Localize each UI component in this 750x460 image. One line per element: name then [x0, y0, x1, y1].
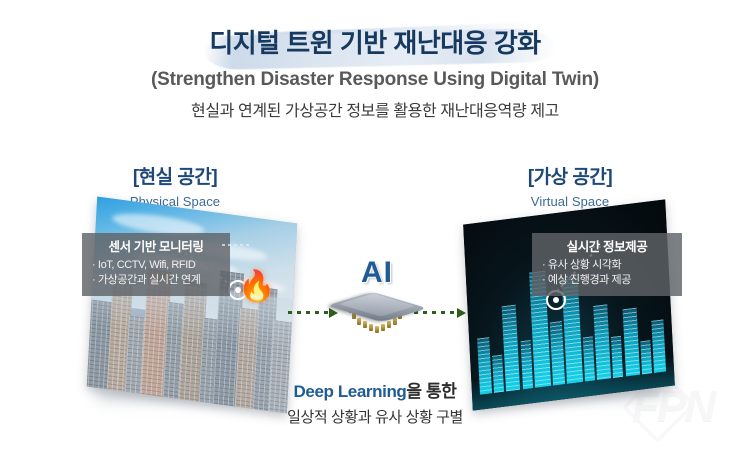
infographic-canvas: FPN 디지털 트윈 기반 재난대응 강화 (Strengthen Disast…	[0, 0, 750, 460]
ai-chip-icon: AI	[344, 262, 410, 336]
virtual-callout-box: 실시간 정보제공 · 유사 상황 시각화 · 예상 진행경과 제공	[532, 233, 682, 296]
virtual-space-heading-kr: [가상 공간]	[470, 166, 670, 190]
digital-twin-image	[463, 199, 675, 410]
page-title: 디지털 트윈 기반 재난대응 강화	[0, 26, 750, 60]
physical-callout-title: 센서 기반 모니터링	[92, 239, 220, 255]
footer-line-1: Deep Learning을 통한	[0, 380, 750, 403]
virtual-space-visualization	[463, 199, 675, 410]
footer-line-2: 일상적 상황과 유사 상황 구별	[0, 407, 750, 428]
footer-line-1-rest: 을 통한	[406, 382, 456, 401]
virtual-callout-item-2: · 예상 진행경과 제공	[542, 273, 672, 288]
ai-label: AI	[344, 258, 410, 288]
physical-callout-item-2: · 가상공간과 실시간 연계	[92, 273, 220, 288]
physical-callout-box: 센서 기반 모니터링 · IoT, CCTV, Wifi, RFID · 가상공…	[82, 233, 230, 296]
virtual-callout-item-1: · 유사 상황 시각화	[542, 258, 672, 273]
flow-arrow-left	[288, 308, 338, 318]
footer-caption: Deep Learning을 통한 일상적 상황과 유사 상황 구별	[0, 380, 750, 428]
virtual-callout-title: 실시간 정보제공	[542, 239, 672, 255]
fire-icon: 🔥	[238, 272, 275, 302]
physical-callout-item-1: · IoT, CCTV, Wifi, RFID	[92, 258, 220, 273]
footer-accent-text: Deep Learning	[294, 382, 407, 401]
title-block: 디지털 트윈 기반 재난대응 강화 (Strengthen Disaster R…	[0, 26, 750, 122]
page-subtitle-korean: 현실과 연계된 가상공간 정보를 활용한 재난대응역량 제고	[0, 101, 750, 122]
page-subtitle-english: (Strengthen Disaster Response Using Digi…	[0, 68, 750, 92]
physical-space-heading-kr: [현실 공간]	[75, 166, 275, 190]
